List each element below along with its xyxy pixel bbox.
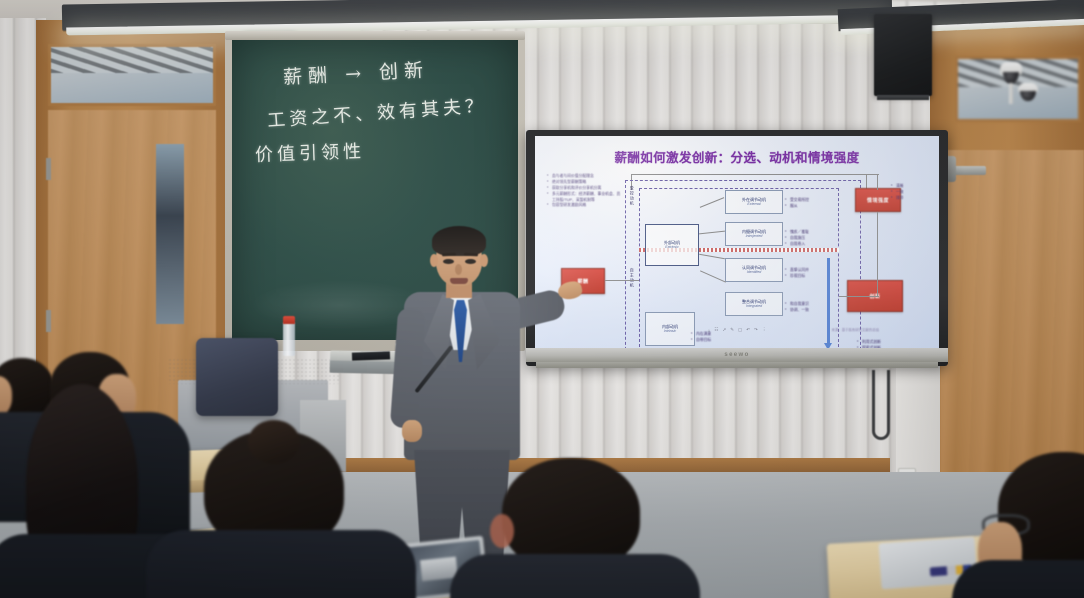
redo-icon[interactable]: ↷ [754, 327, 758, 333]
slide-source-note: 来源：基于既有研究文献的总结 [832, 327, 879, 332]
innovation-bullets: 利用式创新 探索式创新 [857, 340, 933, 348]
notes-external: 受交易所控 服从 [785, 198, 843, 210]
water-bottle [283, 322, 295, 356]
eraser-icon[interactable]: ▢ [738, 327, 742, 333]
left-door-hinge-top [46, 158, 51, 180]
classroom-scene: 薪酬 → 创新 工资之不、效有其夫？ 价值引领性 薪酬如何激发创新：分选、动机和… [0, 0, 1084, 598]
ceiling-camera-icon [1018, 83, 1038, 101]
context-bullet-3: 排异 [891, 196, 939, 202]
note-intrinsic-2: 自带目标 [691, 338, 761, 344]
slide-body: 血与者与间价值分配理念 绝对领先型薪酬策略 获取分享机和评价分享机分离 多元薪酬… [539, 172, 935, 334]
connector-frame-to-innovation [839, 296, 879, 297]
student-6-body [952, 560, 1084, 598]
student-center-right [156, 430, 386, 598]
apps-icon[interactable]: ☷ [714, 327, 718, 333]
instructor-mouth [450, 278, 468, 284]
box-integrated-en: Integrated [746, 304, 762, 309]
podium-monitor[interactable] [196, 338, 278, 416]
right-door-leaf[interactable] [940, 150, 1084, 490]
slide-left-bullets: 血与者与间价值分配理念 绝对领先型薪酬策略 获取分享机和评价分享机分离 多元薪酬… [547, 174, 623, 209]
instructor-ear-right [480, 254, 488, 267]
context-bullets: 清晰 一致 排异 [891, 184, 939, 202]
left-bullet-5: 包容型研发激励风格 [547, 203, 623, 209]
notes-integrated: 和自我意识 协调、一致 [785, 302, 843, 314]
note-integrated-2: 协调、一致 [785, 308, 843, 314]
box-intrinsic: 内部动机 Intrinsic [645, 312, 695, 346]
display-brand-logo: seewo [724, 352, 749, 358]
transom-blinds [51, 47, 213, 73]
note-introjected-3: 自我卷入 [785, 242, 843, 248]
box-extrinsic-en: Extrinsic [665, 245, 679, 250]
vertical-label-controlled: 受控动机 [629, 186, 634, 206]
left-door-hinge-bottom [46, 310, 51, 332]
notes-intrinsic: 内在满意 自带目标 [691, 332, 761, 344]
chalkboard-handwriting: 薪酬 → 创新 工资之不、效有其夫？ 价值引领性 [245, 55, 515, 185]
slide-toolbar[interactable]: ⌂ ☷ ➚ ✎ ▢ ↶ ↷ ⋮ [708, 327, 767, 333]
connector-pay-to-frame [605, 280, 639, 281]
left-door-glass-strip [156, 144, 184, 324]
box-intrinsic-en: Intrinsic [664, 329, 676, 334]
notes-introjected: 愧疚／羞耻 自我施压 自我卷入 [785, 230, 843, 248]
box-external: 外在调节动机 External [725, 190, 783, 214]
cable-hanger [872, 370, 890, 440]
presentation-slide: 薪酬如何激发创新：分选、动机和情境强度 血与者与间价值分配理念 绝对领先型薪酬策… [535, 136, 939, 348]
left-door-transom [48, 44, 216, 106]
chalk-line-3: 价值引领性 [255, 137, 366, 167]
box-integrated: 整合调节动机 Integrated [725, 292, 783, 316]
slide-title: 薪酬如何激发创新：分选、动机和情境强度 [541, 147, 933, 166]
instructor-eye-right [465, 259, 476, 264]
cursor-icon[interactable]: ➚ [722, 327, 726, 333]
flow-arrow-down [827, 258, 830, 344]
instructor-eye-left [443, 259, 454, 264]
instructor-hair [432, 226, 486, 256]
box-identified: 认同调节动机 Identified [725, 258, 783, 282]
student-4-body [146, 530, 416, 598]
box-identified-en: Identified [747, 270, 762, 275]
wall-speaker-right [874, 14, 932, 96]
instructor-ear-left [430, 254, 438, 267]
student-5-ear [490, 514, 514, 548]
chalkboard-top-rail [225, 31, 525, 40]
notes-identified: 直挚认同并 珍视目标 [785, 268, 843, 280]
student-center [476, 458, 676, 598]
box-extrinsic: 外部动机 Extrinsic [645, 224, 699, 266]
dome-camera-right [1000, 62, 1022, 84]
pen-icon[interactable]: ✎ [730, 327, 734, 333]
instructor-left-hand [402, 420, 422, 442]
connector-top-to-context [783, 174, 879, 175]
box-introjected-en: Introjected [746, 234, 763, 239]
instructor-nose [455, 264, 462, 275]
chalk-line-2: 工资之不、效有其夫？ [266, 91, 487, 132]
display-bottom-bezel: seewo [526, 348, 948, 362]
student-4-bun [248, 420, 300, 464]
water-bottle-cap [283, 316, 295, 324]
box-external-en: External [747, 202, 760, 207]
box-introjected: 内摄调节动机 Introjected [725, 222, 783, 246]
note-identified-2: 珍视目标 [785, 274, 843, 280]
chalk-line-1: 薪酬 → 创新 [282, 55, 429, 90]
left-bullet-4: 多元薪酬形式：经济薪酬、事业机会、员工持股/TUP、采暂机制等 [547, 192, 623, 204]
display-stand [536, 362, 938, 368]
student-right [972, 452, 1084, 598]
home-icon[interactable]: ⌂ [708, 328, 711, 333]
connector-context-to-innovation [877, 212, 878, 296]
connector-context-down [877, 174, 878, 190]
undo-icon[interactable]: ↶ [746, 327, 750, 333]
more-icon[interactable]: ⋮ [762, 327, 767, 333]
note-external-2: 服从 [785, 204, 843, 210]
smart-display-screen[interactable]: 薪酬如何激发创新：分选、动机和情境强度 血与者与间价值分配理念 绝对领先型薪酬策… [535, 136, 939, 348]
vertical-label-autonomous: 自主动机 [629, 268, 634, 288]
student-5-body [450, 554, 700, 598]
